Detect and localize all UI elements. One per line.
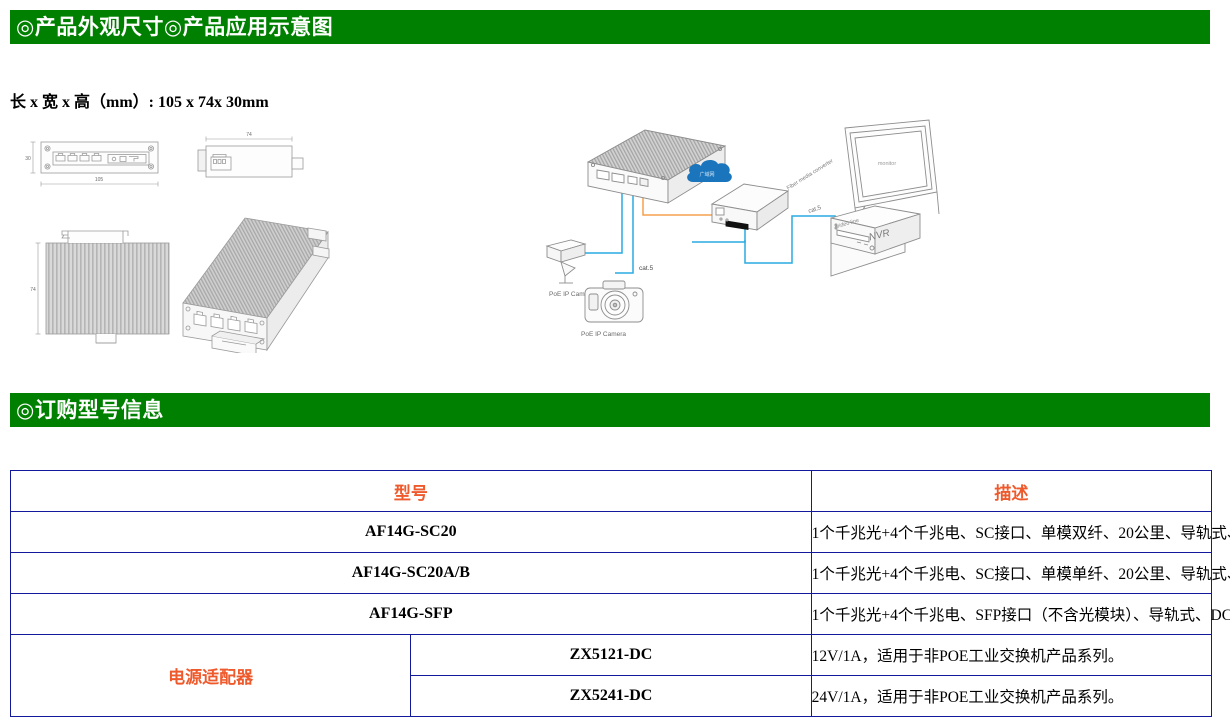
description-cell: 12V/1A，适用于非POE工业交换机产品系列。 (811, 635, 1211, 676)
dim-label-front-width: 105 (95, 177, 104, 183)
media-converter-label: Fiber media converter (786, 158, 835, 192)
table-header-description: 描述 (811, 471, 1211, 512)
table-row-adapter: 电源适配器 ZX5121-DC 12V/1A，适用于非POE工业交换机产品系列。 (11, 635, 1212, 676)
drawing-isometric-view (183, 218, 329, 353)
model-cell: AF14G-SC20 (11, 512, 812, 553)
table-header-model: 型号 (11, 471, 812, 512)
model-cell: ZX5121-DC (411, 635, 811, 676)
dim-label-side-width: 74 (246, 132, 252, 138)
table-row: AF14G-SFP 1个千兆光+4个千兆电、SFP接口（不含光模块）、导轨式、D… (11, 594, 1212, 635)
cloud-label: 广域网 (699, 171, 714, 178)
dim-label-top-height: 74 (30, 287, 36, 293)
product-dimensions-text: 长 x 宽 x 高（mm）: 105 x 74x 30mm (10, 88, 269, 112)
cat5-label-right: cat.5 (808, 205, 823, 215)
table-header-row: 型号 描述 (11, 471, 1212, 512)
section-banner-appearance: ◎产品外观尺寸◎产品应用示意图 (10, 10, 1210, 44)
cat5-label-left: cat.5 (639, 265, 653, 272)
drawing-front-view (41, 142, 158, 173)
model-cell: AF14G-SFP (11, 594, 812, 635)
device-monitor (845, 120, 939, 222)
ordering-table: 型号 描述 AF14G-SC20 1个千兆光+4个千兆电、SC接口、单模双纤、2… (10, 470, 1212, 717)
device-dslr-camera (585, 281, 643, 322)
table-row: AF14G-SC20A/B 1个千兆光+4个千兆电、SC接口、单模单纤、20公里… (11, 553, 1212, 594)
dslr-camera-label: PoE IP Camera (581, 331, 626, 338)
model-cell: AF14G-SC20A/B (11, 553, 812, 594)
monitor-label: monitor (878, 161, 897, 167)
device-bullet-camera (547, 240, 585, 283)
application-diagram-panel: 广域网 Fiber media converter monitor (545, 118, 965, 350)
dimension-top-height (36, 243, 41, 334)
dim-label-front-height: 30 (25, 156, 31, 162)
device-media-converter (712, 184, 788, 230)
adapter-group-label: 电源适配器 (11, 635, 411, 717)
drawing-side-view (198, 146, 303, 177)
dimension-front-height (31, 142, 36, 173)
section-banner-ordering: ◎订购型号信息 (10, 393, 1210, 427)
model-cell: ZX5241-DC (411, 676, 811, 717)
description-cell: 24V/1A，适用于非POE工业交换机产品系列。 (811, 676, 1211, 717)
description-cell: 1个千兆光+4个千兆电、SC接口、单模单纤、20公里、导轨式、DC12-48V供… (811, 553, 1211, 594)
application-diagram-svg: 广域网 Fiber media converter monitor (545, 118, 965, 350)
description-cell: 1个千兆光+4个千兆电、SFP接口（不含光模块）、导轨式、DC12-48V供电-… (811, 594, 1211, 635)
mechanical-drawings-panel: 30 105 74 (8, 128, 358, 353)
mechanical-drawings-svg: 30 105 74 (8, 128, 358, 353)
description-cell: 1个千兆光+4个千兆电、SC接口、单模双纤、20公里、导轨式、DC12-48V供… (811, 512, 1211, 553)
table-row: AF14G-SC20 1个千兆光+4个千兆电、SC接口、单模双纤、20公里、导轨… (11, 512, 1212, 553)
drawing-top-view (46, 231, 169, 343)
